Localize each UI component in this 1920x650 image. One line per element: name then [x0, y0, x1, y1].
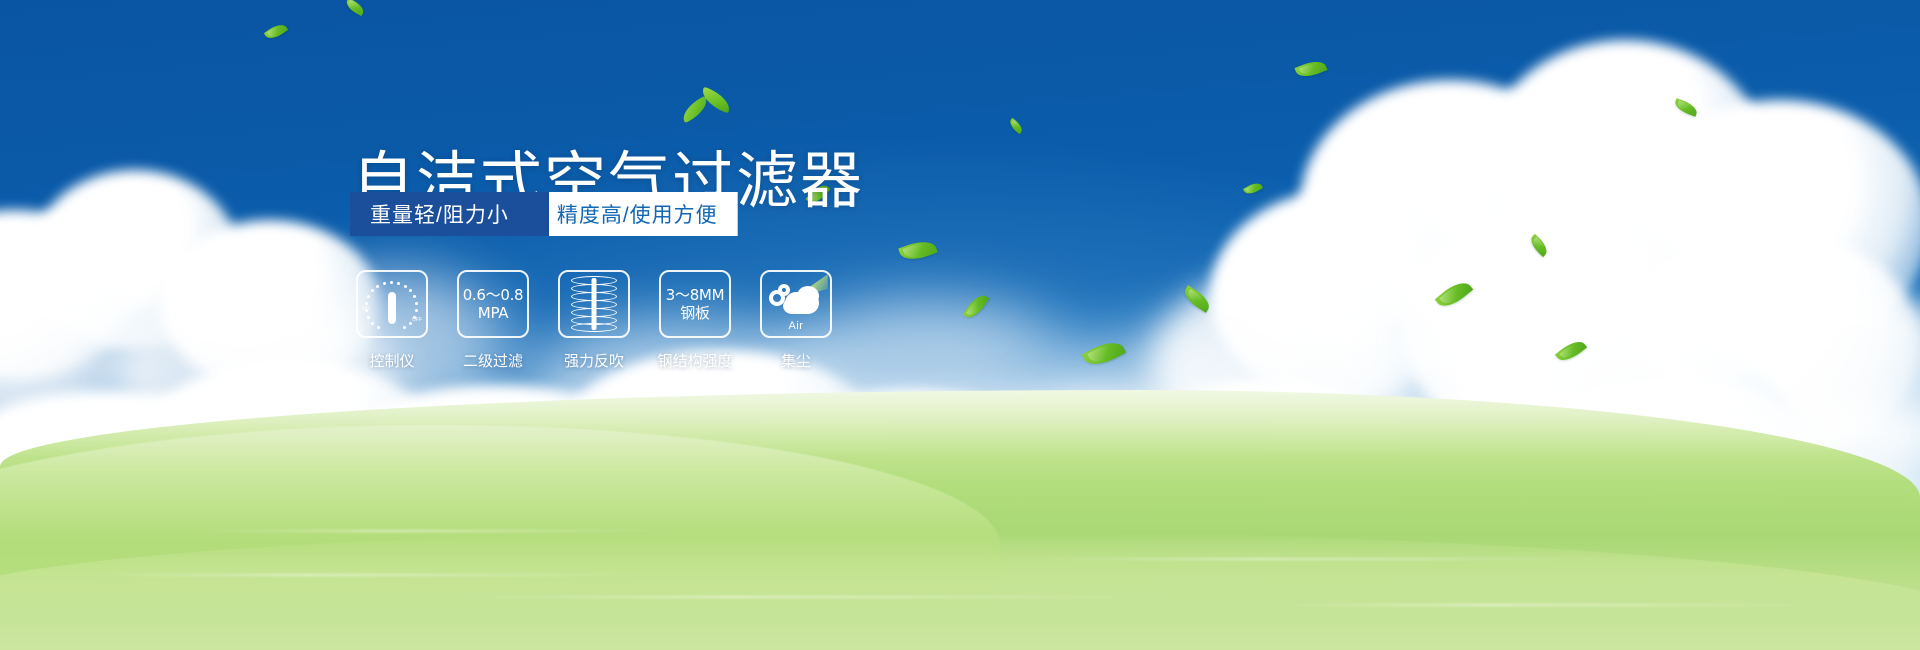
gauge-icon: NO OFF	[363, 276, 421, 332]
air-cloud-icon: Air	[767, 278, 825, 330]
feature-item-controller[interactable]: NO OFF 控制仪	[356, 270, 428, 371]
filter-stack-icon	[571, 276, 617, 332]
feature-item-steel[interactable]: 3～8MM 钢板 钢结构强度	[659, 270, 731, 371]
feature-label: 二级过滤	[463, 350, 523, 371]
feature-icon-row: NO OFF 控制仪 0.6～0.8 MPA 二级过滤	[356, 270, 832, 371]
feature-label: 钢结构强度	[658, 350, 733, 371]
tagline-left: 重量轻/阻力小	[350, 192, 549, 236]
gauge-min-label: NO	[362, 306, 370, 312]
filter-stack-icon-box	[558, 270, 630, 338]
steel-plate-value: 3～8MM 钢板	[666, 286, 724, 322]
feature-label: 集尘	[781, 350, 811, 371]
air-caption: Air	[767, 320, 825, 332]
pressure-icon-box: 0.6～0.8 MPA	[457, 270, 529, 338]
feature-item-backblow[interactable]: 强力反吹	[558, 270, 630, 371]
steel-plate-icon-box: 3～8MM 钢板	[659, 270, 731, 338]
gauge-icon-box: NO OFF	[356, 270, 428, 338]
feature-label: 控制仪	[369, 350, 414, 371]
air-cloud-icon-box: Air	[760, 270, 832, 338]
pressure-value: 0.6～0.8 MPA	[463, 286, 524, 322]
feature-item-dust[interactable]: Air 集尘	[760, 270, 832, 371]
title-leaf-icon	[680, 88, 734, 124]
promo-banner: 自洁式空气过滤器 重量轻/阻力小 精度高/使用方便	[0, 0, 1920, 650]
gauge-max-label: OFF	[412, 317, 422, 323]
banner-content: 自洁式空气过滤器 重量轻/阻力小 精度高/使用方便	[0, 0, 1920, 650]
tagline-right: 精度高/使用方便	[523, 192, 738, 236]
feature-item-pressure[interactable]: 0.6～0.8 MPA 二级过滤	[457, 270, 529, 371]
feature-label: 强力反吹	[564, 350, 624, 371]
tagline: 重量轻/阻力小 精度高/使用方便	[350, 192, 738, 236]
